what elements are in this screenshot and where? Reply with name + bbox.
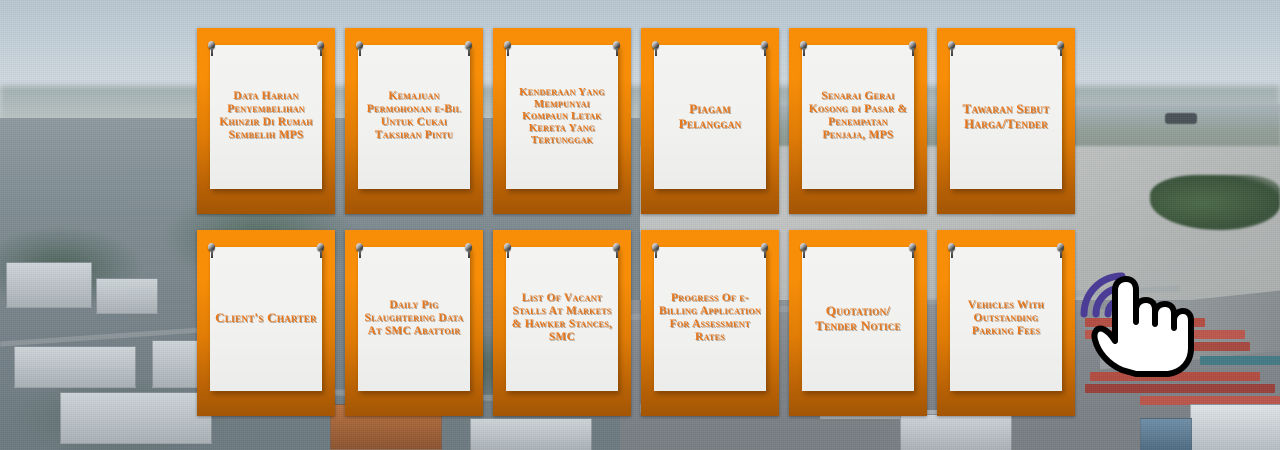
- service-card-vehicles-outstanding-parking[interactable]: Vehicles With Outstanding Parking Fees: [937, 230, 1075, 416]
- service-card-label: Piagam Pelanggan: [658, 101, 762, 131]
- service-card-paper: Kenderaan Yang Mempunyai Kompaun Letak K…: [506, 45, 618, 189]
- service-card-paper: Vehicles With Outstanding Parking Fees: [950, 247, 1062, 391]
- service-card-paper: Kemajuan Permohonan e-Bil Untuk Cukai Ta…: [358, 45, 470, 189]
- background-building: [96, 278, 158, 314]
- service-card-label: Kenderaan Yang Mempunyai Kompaun Letak K…: [510, 86, 614, 146]
- background-building: [60, 392, 212, 444]
- service-card-label: Daily Pig Slaughtering Data At SMC Abatt…: [362, 299, 466, 338]
- service-card-senarai-gerai-kosong[interactable]: Senarai Gerai Kosong di Pasar & Penempat…: [789, 28, 927, 214]
- service-card-paper: Quotation/ Tender Notice: [802, 247, 914, 391]
- service-card-label: Tawaran Sebut Harga/Tender: [954, 101, 1058, 131]
- service-card-label: Progress Of e-Billing Application For As…: [658, 292, 762, 344]
- service-card-data-harian-penyembelihan[interactable]: Data Harian Penyembelihan Khinzir Di Rum…: [197, 28, 335, 214]
- background-container: [1090, 372, 1260, 381]
- service-card-kenderaan-kompaun-letak[interactable]: Kenderaan Yang Mempunyai Kompaun Letak K…: [493, 28, 631, 214]
- background-building: [14, 346, 136, 388]
- service-card-paper: Data Harian Penyembelihan Khinzir Di Rum…: [210, 45, 322, 189]
- service-card-tawaran-sebut-harga-tender[interactable]: Tawaran Sebut Harga/Tender: [937, 28, 1075, 214]
- background-container: [1085, 330, 1245, 339]
- service-card-label: Senarai Gerai Kosong di Pasar & Penempat…: [806, 90, 910, 142]
- service-card-label: Kemajuan Permohonan e-Bil Untuk Cukai Ta…: [362, 90, 466, 142]
- background-container: [1100, 342, 1250, 351]
- service-card-list-of-vacant-stalls[interactable]: List Of Vacant Stalls At Markets & Hawke…: [493, 230, 631, 416]
- service-card-paper: Piagam Pelanggan: [654, 45, 766, 189]
- service-card-label: Quotation/ Tender Notice: [806, 303, 910, 333]
- page-root: Data Harian Penyembelihan Khinzir Di Rum…: [0, 0, 1280, 450]
- background-barge: [1165, 113, 1197, 124]
- service-card-grid: Data Harian Penyembelihan Khinzir Di Rum…: [197, 28, 1083, 422]
- service-card-label: List Of Vacant Stalls At Markets & Hawke…: [510, 292, 614, 344]
- service-card-label: Vehicles With Outstanding Parking Fees: [954, 299, 1058, 338]
- service-card-paper: List Of Vacant Stalls At Markets & Hawke…: [506, 247, 618, 391]
- background-container: [1200, 356, 1280, 365]
- service-card-piagam-pelanggan[interactable]: Piagam Pelanggan: [641, 28, 779, 214]
- background-container: [1085, 318, 1205, 327]
- service-card-paper: Senarai Gerai Kosong di Pasar & Penempat…: [802, 45, 914, 189]
- service-card-paper: Progress Of e-Billing Application For As…: [654, 247, 766, 391]
- service-card-paper: Tawaran Sebut Harga/Tender: [950, 45, 1062, 189]
- background-container: [1085, 384, 1275, 393]
- background-building: [6, 262, 92, 308]
- service-card-progress-ebilling-assessment[interactable]: Progress Of e-Billing Application For As…: [641, 230, 779, 416]
- service-card-quotation-tender-notice[interactable]: Quotation/ Tender Notice: [789, 230, 927, 416]
- service-card-clients-charter[interactable]: Client's Charter: [197, 230, 335, 416]
- service-card-daily-pig-slaughtering-data[interactable]: Daily Pig Slaughtering Data At SMC Abatt…: [345, 230, 483, 416]
- service-card-kemajuan-permohonan-ebil[interactable]: Kemajuan Permohonan e-Bil Untuk Cukai Ta…: [345, 28, 483, 214]
- service-card-paper: Daily Pig Slaughtering Data At SMC Abatt…: [358, 247, 470, 391]
- service-card-label: Data Harian Penyembelihan Khinzir Di Rum…: [214, 90, 318, 142]
- background-building: [470, 418, 592, 450]
- service-card-paper: Client's Charter: [210, 247, 322, 391]
- background-building: [1140, 418, 1192, 450]
- background-building: [1190, 404, 1280, 450]
- service-card-label: Client's Charter: [215, 310, 317, 325]
